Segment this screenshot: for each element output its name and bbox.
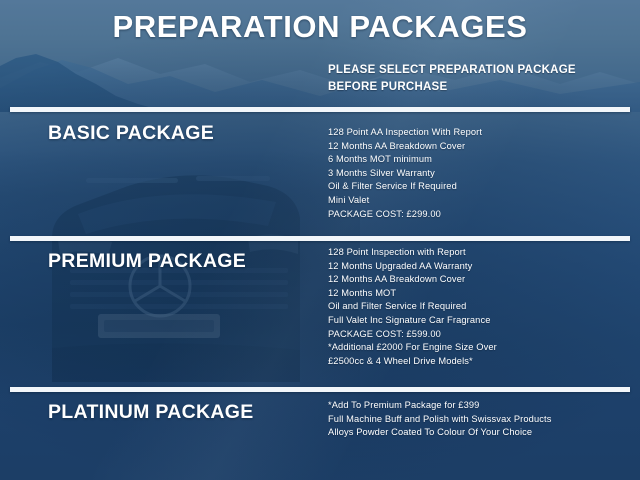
divider-above-platinum [10, 387, 630, 392]
feature-item: Oil and Filter Service If Required [328, 300, 497, 314]
divider-above-premium [10, 236, 630, 241]
feature-item: 12 Months MOT [328, 287, 497, 301]
feature-item: 128 Point AA Inspection With Report [328, 126, 482, 140]
package-heading-basic[interactable]: BASIC PACKAGE [48, 121, 214, 145]
package-features-premium: 128 Point Inspection with Report 12 Mont… [328, 246, 497, 368]
feature-item: 12 Months AA Breakdown Cover [328, 273, 497, 287]
feature-item: 6 Months MOT minimum [328, 153, 482, 167]
package-note-premium-line-1: *Additional £2000 For Engine Size Over [328, 341, 497, 355]
package-features-platinum: *Add To Premium Package for £399 Full Ma… [328, 399, 552, 440]
selection-instruction-line-1: PLEASE SELECT PREPARATION PACKAGE [328, 62, 576, 79]
feature-item: Oil & Filter Service If Required [328, 180, 482, 194]
package-cost-platinum: *Add To Premium Package for £399 [328, 399, 552, 413]
feature-item: 12 Months Upgraded AA Warranty [328, 260, 497, 274]
selection-instruction: PLEASE SELECT PREPARATION PACKAGE BEFORE… [328, 62, 576, 96]
package-heading-platinum[interactable]: PLATINUM PACKAGE [48, 400, 254, 424]
feature-item: Mini Valet [328, 194, 482, 208]
preparation-packages-poster: PREPARATION PACKAGES PLEASE SELECT PREPA… [0, 0, 640, 480]
package-note-premium-line-2: £2500cc & 4 Wheel Drive Models* [328, 355, 497, 369]
package-cost-basic: PACKAGE COST: £299.00 [328, 208, 482, 222]
feature-item: Full Machine Buff and Polish with Swissv… [328, 413, 552, 427]
selection-instruction-line-2: BEFORE PURCHASE [328, 79, 576, 96]
feature-item: 128 Point Inspection with Report [328, 246, 497, 260]
feature-item: Full Valet Inc Signature Car Fragrance [328, 314, 497, 328]
feature-item: 3 Months Silver Warranty [328, 167, 482, 181]
page-title: PREPARATION PACKAGES [0, 8, 640, 46]
divider-above-basic [10, 107, 630, 112]
package-heading-premium[interactable]: PREMIUM PACKAGE [48, 249, 246, 273]
package-cost-premium: PACKAGE COST: £599.00 [328, 328, 497, 342]
package-features-basic: 128 Point AA Inspection With Report 12 M… [328, 126, 482, 221]
poster-content: PREPARATION PACKAGES PLEASE SELECT PREPA… [0, 0, 640, 480]
feature-item: 12 Months AA Breakdown Cover [328, 140, 482, 154]
feature-item: Alloys Powder Coated To Colour Of Your C… [328, 426, 552, 440]
